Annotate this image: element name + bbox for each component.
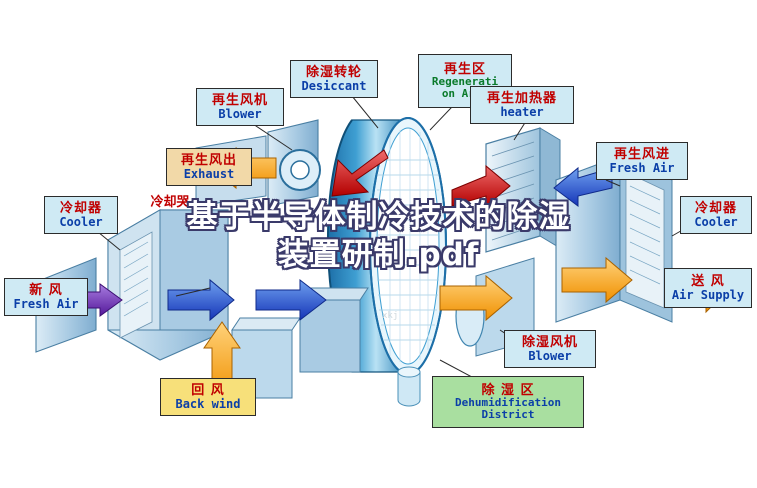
label-regeneration-blower-cn: 再生风机 <box>212 94 268 108</box>
label-cooler-left-en: Cooler <box>59 216 102 229</box>
label-regeneration-heater-cn: 再生加热器 <box>487 92 557 106</box>
label-supply-air-en: Air Supply <box>672 289 744 302</box>
label-back-wind-cn: 回 风 <box>191 384 225 398</box>
label-regeneration-fresh-air: 再生风进 Fresh Air <box>596 142 688 180</box>
label-dehumidification-blower-en: Blower <box>528 350 571 363</box>
label-desiccant-wheel-en: Desiccant <box>301 80 366 93</box>
label-desiccant-wheel: 除湿转轮 Desiccant <box>290 60 378 98</box>
label-dehumidification-district: 除 湿 区 Dehumidification District <box>432 376 584 428</box>
label-dehumidification-district-cn: 除 湿 区 <box>481 384 534 398</box>
label-fresh-air-cn: 新 风 <box>29 284 63 298</box>
label-regeneration-heater-en: heater <box>500 106 543 119</box>
label-cooler-left-cn: 冷却器 <box>60 202 102 216</box>
label-cooler-left: 冷却器 Cooler <box>44 196 118 234</box>
label-regeneration-heater: 再生加热器 heater <box>470 86 574 124</box>
label-regeneration-exhaust: 再生风出 Exhaust <box>166 148 252 186</box>
label-regeneration-blower: 再生风机 Blower <box>196 88 284 126</box>
label-desiccant-wheel-cn: 除湿转轮 <box>306 66 362 80</box>
svg-text:xkj: xkj <box>382 311 398 321</box>
label-back-wind: 回 风 Back wind <box>160 378 256 416</box>
diagram-canvas: xkj <box>0 0 757 488</box>
dehumidifier-schematic-illustration: xkj <box>0 0 757 488</box>
label-regeneration-exhaust-cn: 再生风出 <box>181 154 237 168</box>
label-fresh-air: 新 风 Fresh Air <box>4 278 88 316</box>
label-cooler-middle-text: 冷却哭 <box>136 196 204 210</box>
label-regeneration-fresh-air-cn: 再生风进 <box>614 148 670 162</box>
label-dehumidification-blower: 除湿风机 Blower <box>504 330 596 368</box>
label-cooler-right-en: Cooler <box>694 216 737 229</box>
label-regeneration-exhaust-en: Exhaust <box>184 168 235 181</box>
label-cooler-right: 冷却器 Cooler <box>680 196 752 234</box>
label-regeneration-area-cn: 再生区 <box>444 63 486 77</box>
label-cooler-right-cn: 冷却器 <box>695 202 737 216</box>
label-regeneration-blower-en: Blower <box>218 108 261 121</box>
label-fresh-air-en: Fresh Air <box>13 298 78 311</box>
label-back-wind-en: Back wind <box>175 398 240 411</box>
label-supply-air-cn: 送 风 <box>691 275 725 289</box>
label-dehumidification-blower-cn: 除湿风机 <box>522 336 578 350</box>
label-regeneration-fresh-air-en: Fresh Air <box>609 162 674 175</box>
label-supply-air: 送 风 Air Supply <box>664 268 752 308</box>
label-dehumidification-district-en: Dehumidification District <box>455 397 561 420</box>
